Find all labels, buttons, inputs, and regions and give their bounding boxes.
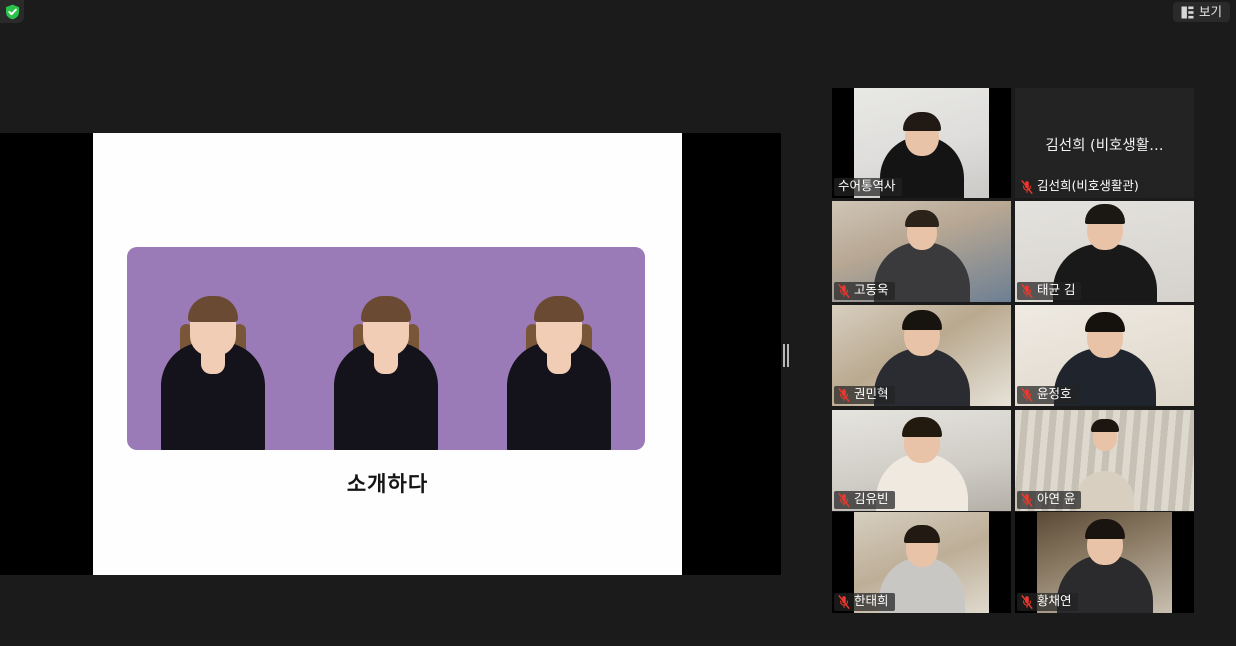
participant-hair bbox=[903, 112, 941, 131]
mic-muted-icon bbox=[1021, 595, 1033, 609]
participant-name-bar: 권민혁 bbox=[834, 386, 895, 404]
participant-name-bar: 김선희(비호생활관) bbox=[1017, 178, 1145, 196]
video-letterbox-right bbox=[1172, 512, 1194, 613]
participant-tile[interactable]: 고동욱 bbox=[832, 201, 1011, 302]
view-layout-button[interactable]: 보기 bbox=[1173, 2, 1230, 22]
participant-name-bar: 아연 윤 bbox=[1017, 491, 1081, 509]
slide-caption: 소개하다 bbox=[93, 468, 682, 498]
mic-muted-icon bbox=[1021, 388, 1033, 402]
participant-name-bar: 수어통역사 bbox=[834, 178, 902, 196]
participant-name-label: 한태희 bbox=[854, 595, 889, 608]
view-button-label: 보기 bbox=[1199, 6, 1222, 19]
participant-name-label: 권민혁 bbox=[854, 388, 889, 401]
video-letterbox-right bbox=[989, 512, 1011, 613]
participant-tile[interactable]: 수어통역사 bbox=[832, 88, 1011, 198]
participant-hair bbox=[1091, 419, 1119, 432]
mic-muted-icon bbox=[838, 595, 850, 609]
participant-tile[interactable]: 한태희 bbox=[832, 512, 1011, 613]
security-button[interactable] bbox=[0, 0, 24, 23]
mic-muted-icon bbox=[838, 388, 850, 402]
participant-name-bar: 태균 김 bbox=[1017, 282, 1081, 300]
participant-name-bar: 황채연 bbox=[1017, 593, 1078, 611]
participant-tile[interactable]: 황채연 bbox=[1015, 512, 1194, 613]
participant-name-label: 윤정호 bbox=[1037, 388, 1072, 401]
signer-figure-1 bbox=[127, 247, 300, 450]
sign-language-image bbox=[127, 247, 645, 450]
participant-name-bar: 김유빈 bbox=[834, 491, 895, 509]
panel-resize-handle[interactable] bbox=[783, 344, 789, 367]
layout-view-icon bbox=[1181, 6, 1194, 19]
participant-name-bar: 한태희 bbox=[834, 593, 895, 611]
participant-name-label: 김유빈 bbox=[854, 493, 889, 506]
participant-name-bar: 고동욱 bbox=[834, 282, 895, 300]
participant-name-label: 태균 김 bbox=[1037, 284, 1075, 297]
participant-name-label: 황채연 bbox=[1037, 595, 1072, 608]
signer-figure-2 bbox=[300, 247, 473, 450]
participant-name-label: 김선희(비호생활관) bbox=[1037, 180, 1139, 193]
participant-filmstrip[interactable]: 수어통역사김선희 (비호생활… 김선희(비호생활관) 고동욱 태균 김 권민혁 bbox=[832, 88, 1194, 618]
participant-hair bbox=[1085, 312, 1125, 332]
mic-muted-icon bbox=[838, 284, 850, 298]
participant-hair bbox=[902, 417, 942, 437]
video-letterbox-right bbox=[989, 88, 1011, 198]
mic-muted-icon bbox=[838, 493, 850, 507]
top-bar: 보기 bbox=[0, 0, 1236, 28]
participant-display-name: 김선희 (비호생활… bbox=[1015, 134, 1194, 155]
participant-tile[interactable]: 태균 김 bbox=[1015, 201, 1194, 302]
participant-hair bbox=[1085, 519, 1125, 539]
presentation-slide: 소개하다 bbox=[93, 133, 682, 575]
participant-hair bbox=[1085, 204, 1125, 224]
participant-hair bbox=[904, 525, 940, 543]
mic-muted-icon bbox=[1021, 284, 1033, 298]
participant-name-bar: 윤정호 bbox=[1017, 386, 1078, 404]
shield-check-icon bbox=[5, 4, 20, 20]
mic-muted-icon bbox=[1021, 493, 1033, 507]
participant-hair bbox=[902, 310, 942, 330]
mic-muted-icon bbox=[1021, 180, 1033, 194]
meeting-window: 보기 bbox=[0, 0, 1236, 646]
participant-tile[interactable]: 윤정호 bbox=[1015, 305, 1194, 406]
participant-tile[interactable]: 아연 윤 bbox=[1015, 410, 1194, 511]
participant-tile[interactable]: 김유빈 bbox=[832, 410, 1011, 511]
participant-name-label: 고동욱 bbox=[854, 284, 889, 297]
participant-name-label: 수어통역사 bbox=[838, 180, 896, 193]
participant-hair bbox=[905, 210, 939, 227]
signer-figure-3 bbox=[472, 247, 645, 450]
participant-name-label: 아연 윤 bbox=[1037, 493, 1075, 506]
participant-tile[interactable]: 권민혁 bbox=[832, 305, 1011, 406]
participant-body bbox=[1076, 471, 1134, 511]
shared-screen-stage[interactable]: 소개하다 bbox=[0, 133, 781, 575]
participant-tile[interactable]: 김선희 (비호생활… 김선희(비호생활관) bbox=[1015, 88, 1194, 198]
